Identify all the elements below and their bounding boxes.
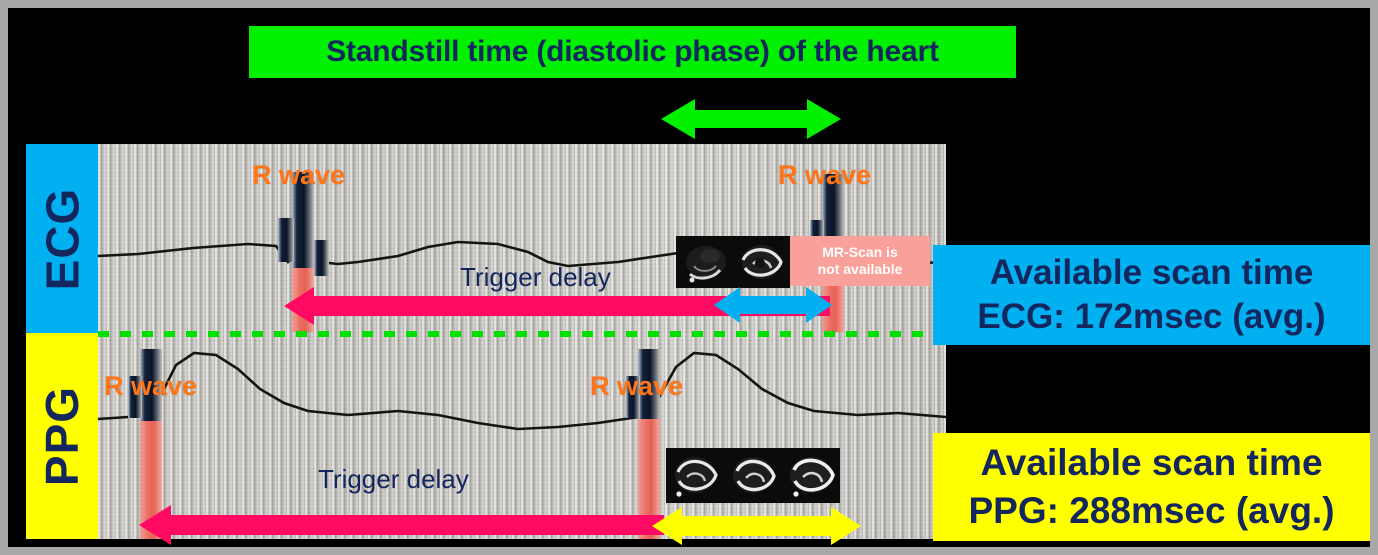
ecg-r-wave-label-2: R wave — [778, 160, 871, 191]
mr-scan-not-available-badge: MR-Scan is not available — [790, 236, 930, 286]
mr-thumbnail — [676, 236, 733, 288]
row-label-ecg-text: ECG — [35, 187, 89, 290]
mr-thumbnail — [782, 448, 840, 503]
mr-scan-not-available-line1: MR-Scan is — [822, 244, 897, 261]
ppg-available-scan-window-arrow-icon — [652, 505, 861, 547]
callout-available-scan-time-ppg: Available scan time PPG: 288msec (avg.) — [933, 433, 1370, 541]
callout-ppg-line2: PPG: 288msec (avg.) — [968, 487, 1334, 535]
row-label-ppg: PPG — [26, 333, 98, 539]
mr-thumbnail-strip-ecg — [676, 236, 790, 288]
ecg-qrs-spike-1-shoulder — [278, 218, 294, 262]
callout-ppg-line1: Available scan time — [980, 439, 1322, 487]
ecg-trigger-delay-label: Trigger delay — [460, 262, 611, 293]
row-label-ppg-text: PPG — [35, 386, 89, 486]
mr-thumbnail — [724, 448, 782, 503]
ppg-r-wave-label-1: R wave — [104, 371, 197, 402]
ppg-trigger-delay-arrow-icon — [139, 505, 664, 545]
row-label-ecg: ECG — [26, 144, 98, 333]
standstill-time-banner: Standstill time (diastolic phase) of the… — [249, 26, 1016, 78]
mr-thumbnail-strip-ppg — [666, 448, 840, 503]
ecg-qrs-spike-1-tail — [314, 240, 329, 276]
ppg-r-wave-label-2: R wave — [590, 371, 683, 402]
mr-thumbnail — [666, 448, 724, 503]
callout-ecg-line1: Available scan time — [990, 251, 1314, 295]
mr-thumbnail — [733, 236, 790, 288]
callout-available-scan-time-ecg: Available scan time ECG: 172msec (avg.) — [933, 245, 1370, 345]
mr-scan-not-available-line2: not available — [818, 261, 903, 278]
ppg-trigger-delay-label: Trigger delay — [318, 464, 469, 495]
standstill-double-arrow-icon — [661, 97, 841, 141]
ecg-r-wave-label-1: R wave — [252, 160, 345, 191]
ecg-available-scan-window-arrow-icon — [714, 284, 832, 326]
callout-ecg-line2: ECG: 172msec (avg.) — [977, 295, 1325, 339]
figure-canvas: Standstill time (diastolic phase) of the… — [8, 8, 1370, 547]
row-divider-dashed-line — [98, 331, 946, 337]
figure-root: Standstill time (diastolic phase) of the… — [0, 0, 1378, 555]
standstill-time-banner-label: Standstill time (diastolic phase) of the… — [326, 35, 939, 69]
